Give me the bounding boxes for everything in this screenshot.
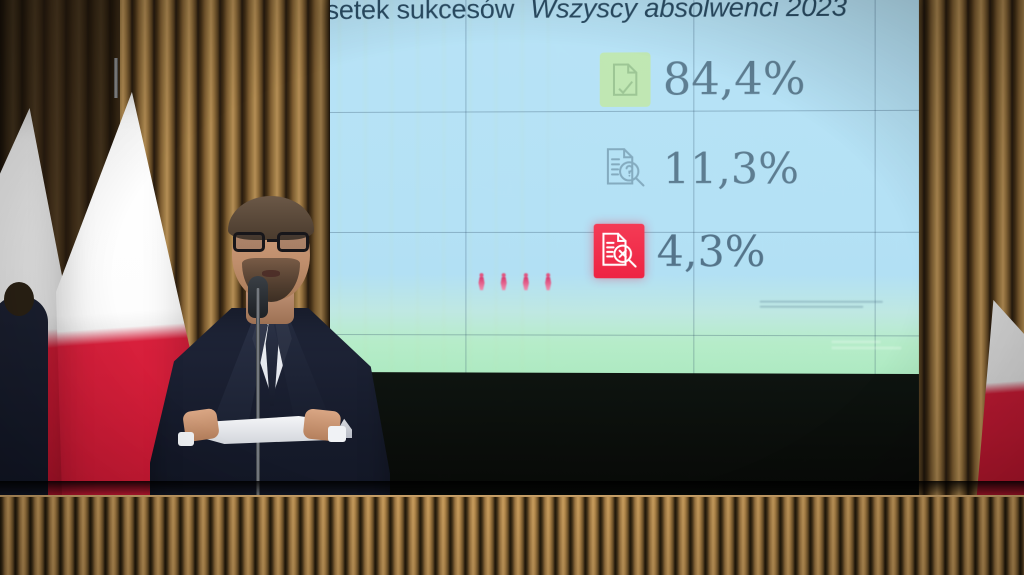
glasses-lens-left [233,232,265,252]
document-question-icon [600,141,651,196]
document-check-icon [600,52,651,107]
slide-fineprint [760,301,904,311]
people-pictogram-group [478,273,551,290]
stat-row-failure: 4,3% [594,224,766,279]
slide-title-italic: Wszyscy absolwenci 2023 [530,0,846,24]
screenshot-stage: Odsetek sukcesówWszyscy absolwenci 2023 … [0,0,1024,575]
flag-pole [114,58,118,98]
slide-footer-logo [831,340,901,352]
person-pictogram [545,273,551,290]
presentation-screen: Odsetek sukcesówWszyscy absolwenci 2023 … [330,0,919,504]
document-x-glyph [600,231,639,271]
icon-wrapper-inquiry [600,141,651,196]
stat-row-success: 84,4% [600,51,806,106]
document-question-glyph [604,146,647,190]
stat-value-success: 84,4% [663,53,806,105]
slide-title: Odsetek sukcesówWszyscy absolwenci 2023 [330,0,857,26]
slat-wall-lower [0,497,1024,575]
person-pictogram [501,273,507,290]
speaker-cuff-right [328,426,346,442]
glasses-bridge [267,239,277,242]
background-person-head [4,282,34,316]
icon-wrapper-failure [594,224,645,278]
document-x-icon [594,224,645,278]
glasses-lens-right [277,232,309,252]
icon-wrapper-success [600,52,651,107]
stat-value-inquiry: 11,3% [663,143,799,193]
panel-seam-vertical-3 [875,0,876,374]
speaker-cuff-left [178,432,194,446]
panel-seam-vertical-1 [465,0,466,372]
speaker-glasses [232,232,310,252]
slide-title-main: Odsetek sukcesów [330,0,514,25]
person-pictogram [523,273,529,290]
stat-value-failure: 4,3% [657,226,766,276]
document-check-glyph [610,62,640,96]
stat-row-inquiry: 11,3% [600,141,799,196]
person-pictogram [478,273,484,290]
speaker-mouth [262,270,280,277]
slide-surface: Odsetek sukcesówWszyscy absolwenci 2023 … [330,0,919,374]
